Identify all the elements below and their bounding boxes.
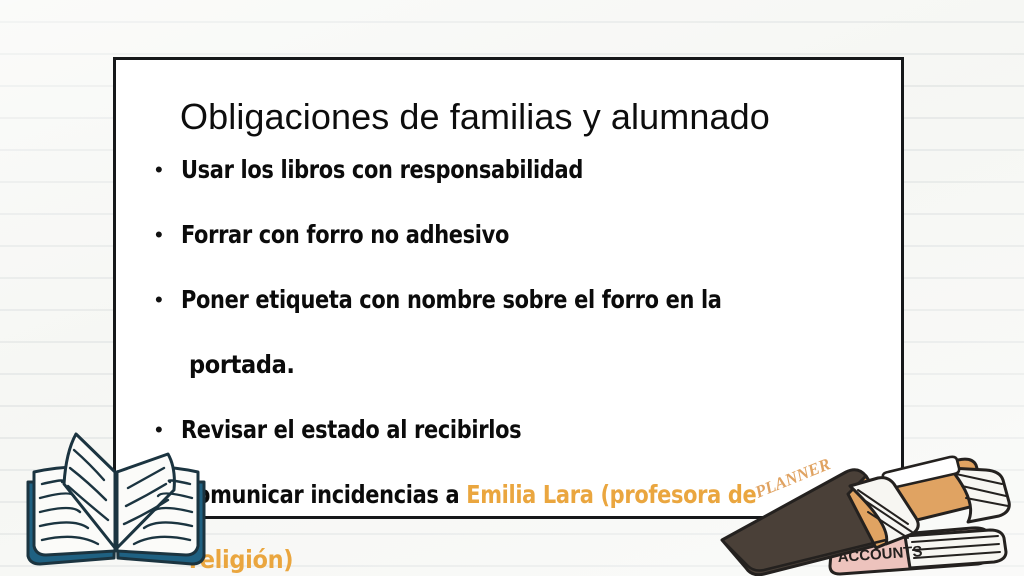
bullet-text-5-plain: Comunicar incidencias a <box>181 480 466 509</box>
open-book-illustration <box>18 424 214 576</box>
bullet-item-3-continuation: portada. <box>155 350 955 415</box>
bullet-item-1: • Usar los libros con responsabilidad <box>155 155 955 220</box>
bullet-text-1: Usar los libros con responsabilidad <box>181 155 901 185</box>
bullet-item-3: • Poner etiqueta con nombre sobre el for… <box>155 285 955 350</box>
stacked-books-illustration: ACCOUNTS <box>700 440 1024 576</box>
bullet-text-3: Poner etiqueta con nombre sobre el forro… <box>181 285 901 315</box>
bullet-marker-icon: • <box>155 220 181 250</box>
slide-title: Obligaciones de familias y alumnado <box>180 96 900 138</box>
bullet-text-3-continuation: portada. <box>181 350 295 379</box>
stacked-books-icon: ACCOUNTS <box>700 440 1024 576</box>
bullet-marker-icon: • <box>155 285 181 315</box>
bullet-marker-icon: • <box>155 155 181 185</box>
slide-canvas: Obligaciones de familias y alumnado • Us… <box>0 0 1024 576</box>
open-book-icon <box>18 424 214 576</box>
bullet-text-2: Forrar con forro no adhesivo <box>181 220 901 250</box>
bullet-item-2: • Forrar con forro no adhesivo <box>155 220 955 285</box>
